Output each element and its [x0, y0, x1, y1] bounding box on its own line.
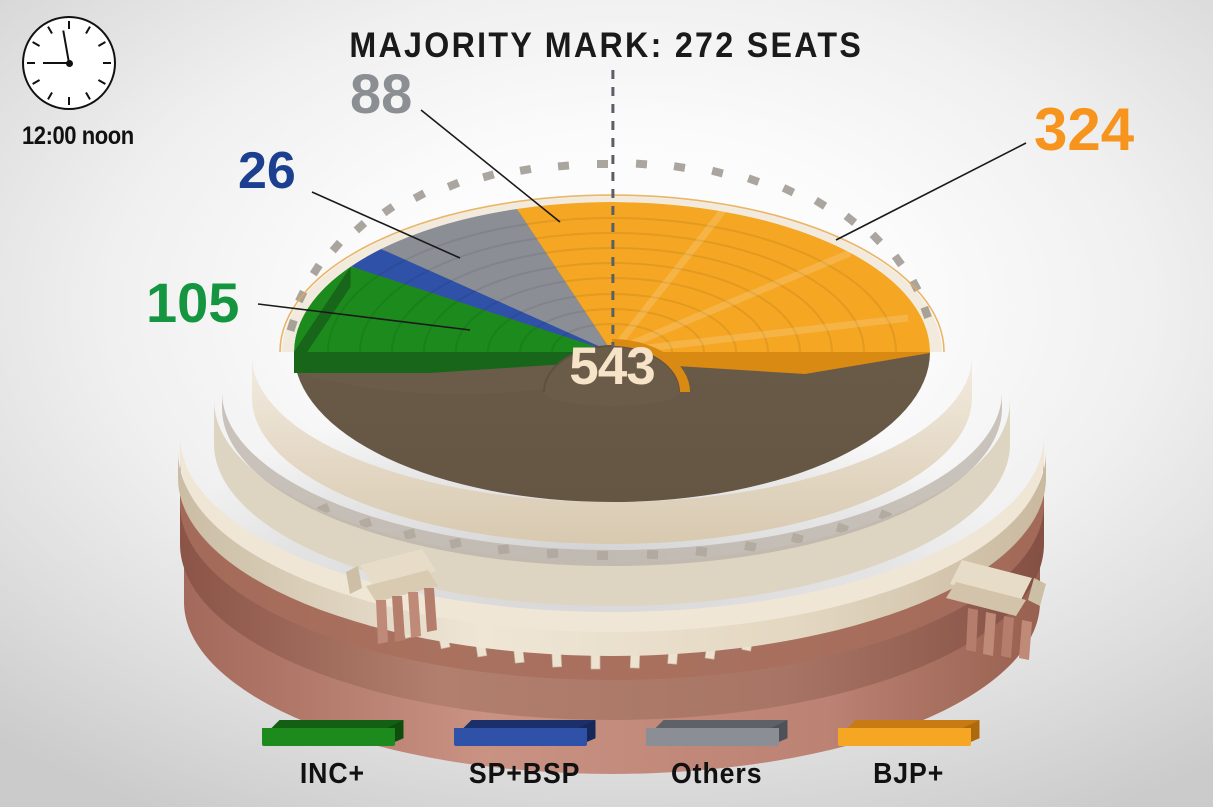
legend-swatch-bjp-front: [838, 728, 971, 746]
clock-time-label: 12:00 noon: [22, 122, 180, 151]
total-seats-label: 543: [569, 336, 654, 397]
legend-swatch-others-front: [646, 728, 779, 746]
legend-swatch-inc-front: [262, 728, 395, 746]
callout-value-others: 88: [350, 66, 412, 122]
legend-swatch-spbsp-front: [454, 728, 587, 746]
legend-swatch-bjp: [838, 720, 980, 746]
callout-value-spbsp: 26: [238, 145, 296, 197]
leader-line-bjp: [836, 143, 1026, 240]
legend-swatch-others: [646, 720, 788, 746]
legend-swatch-inc: [262, 720, 404, 746]
legend-label-bjp: BJP+: [830, 758, 988, 791]
legend-item-inc[interactable]: INC+: [254, 720, 412, 791]
legend-item-others[interactable]: Others: [638, 720, 796, 791]
page-title-text: MAJORITY MARK: 272 SEATS: [350, 26, 864, 66]
page-title: MAJORITY MARK: 272 SEATS: [0, 26, 1213, 66]
legend-swatch-spbsp: [454, 720, 596, 746]
legend-item-bjp[interactable]: BJP+: [830, 720, 988, 791]
callout-value-inc: 105: [146, 275, 239, 331]
legend-label-inc: INC+: [254, 758, 412, 791]
callout-value-bjp: 324: [1034, 100, 1134, 160]
legend-item-spbsp[interactable]: SP+BSP: [446, 720, 604, 791]
infographic-canvas: 12:00 noon MAJORITY MARK: 272 SEATS 88 2…: [0, 0, 1213, 807]
legend-label-others: Others: [638, 758, 796, 791]
legend-label-spbsp: SP+BSP: [446, 758, 604, 791]
legend: INC+ SP+BSP Others: [0, 720, 1213, 791]
